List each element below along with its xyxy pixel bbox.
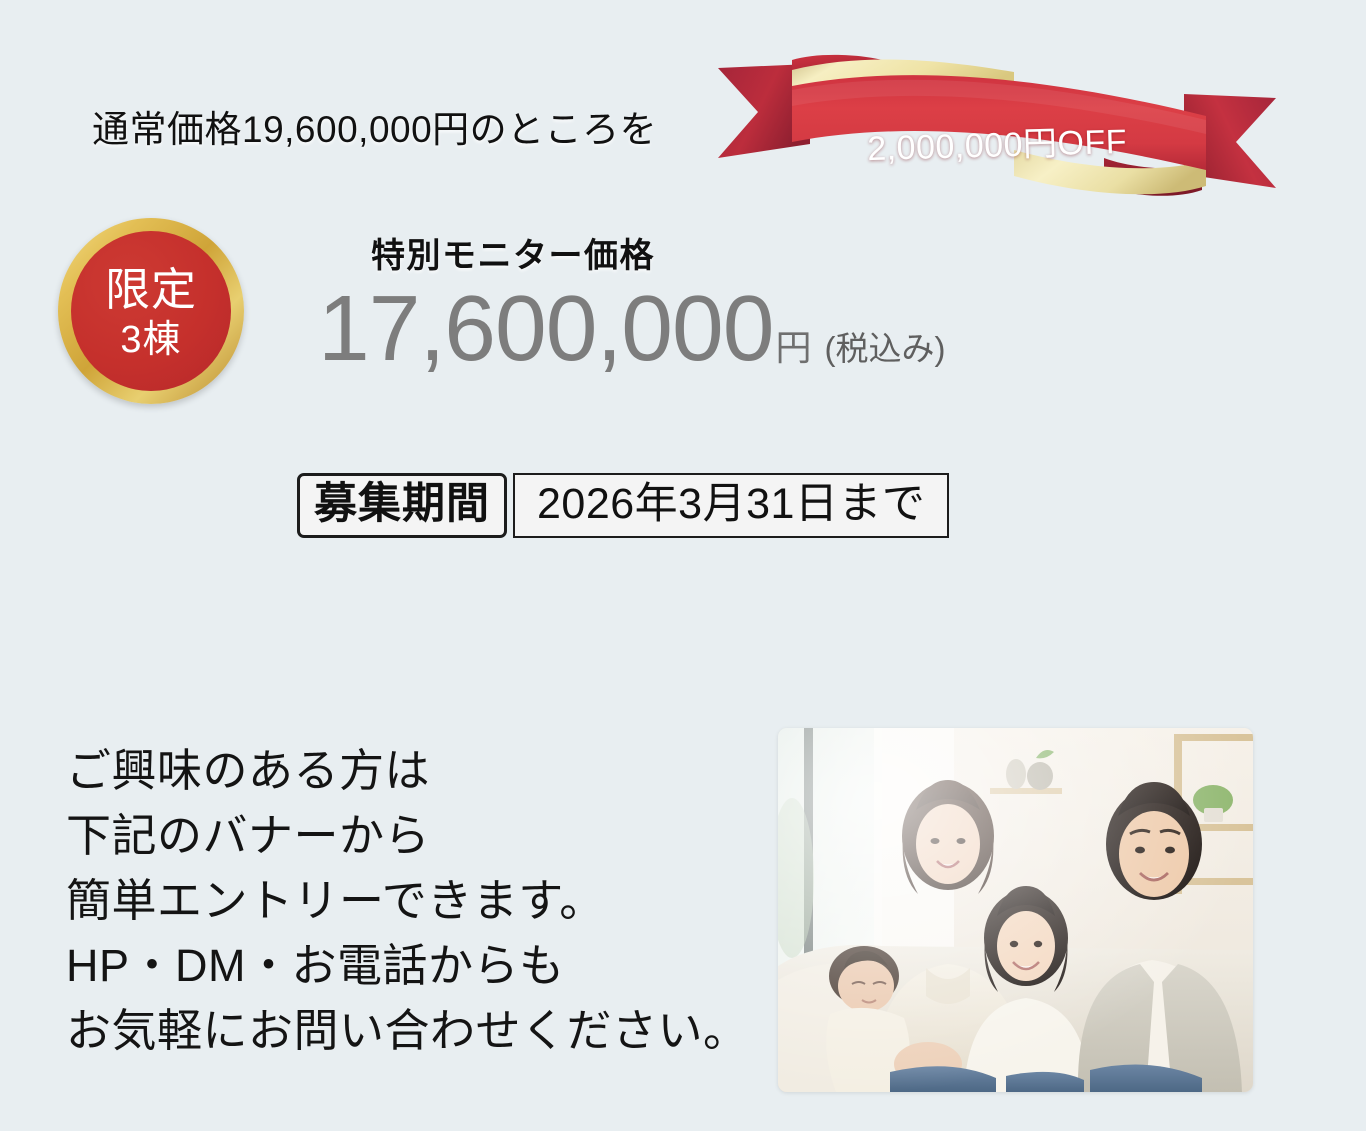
campaign-period-label: 募集期間	[297, 473, 507, 538]
limited-units-badge-inner: 限定 3棟	[71, 231, 231, 391]
monitor-price-label: 特別モニター価格	[371, 228, 655, 277]
campaign-period: 募集期間 2026年3月31日まで	[297, 473, 949, 538]
limited-units-badge: 限定 3棟	[58, 218, 244, 404]
family-photo	[778, 728, 1253, 1092]
family-photo-image	[778, 728, 1253, 1092]
invitation-line-4: HP・DM・お電話からも	[66, 933, 749, 998]
invitation-line-3: 簡単エントリーできます。	[66, 868, 749, 933]
monitor-price-currency: 円	[775, 319, 811, 371]
invitation-copy: ご興味のある方は 下記のバナーから 簡単エントリーできます。 HP・DM・お電話…	[66, 738, 749, 1063]
limited-units-badge-main-text: 限定	[105, 267, 197, 312]
monitor-price-amount: 17,600,000	[318, 282, 773, 375]
monitor-price-row: 17,600,000 円 (税込み)	[318, 282, 945, 375]
invitation-line-2: 下記のバナーから	[66, 803, 749, 868]
discount-ribbon: 2,000,000円OFF	[714, 46, 1280, 198]
ribbon-graphic	[714, 46, 1280, 198]
invitation-line-1: ご興味のある方は	[66, 738, 749, 803]
regular-price-text: 通常価格19,600,000円のところを	[92, 99, 657, 153]
monitor-price-tax-note: (税込み)	[824, 322, 945, 370]
limited-units-badge-sub-text: 3棟	[120, 321, 181, 359]
campaign-period-value: 2026年3月31日まで	[513, 473, 949, 538]
invitation-line-5: お気軽にお問い合わせください。	[66, 998, 749, 1063]
